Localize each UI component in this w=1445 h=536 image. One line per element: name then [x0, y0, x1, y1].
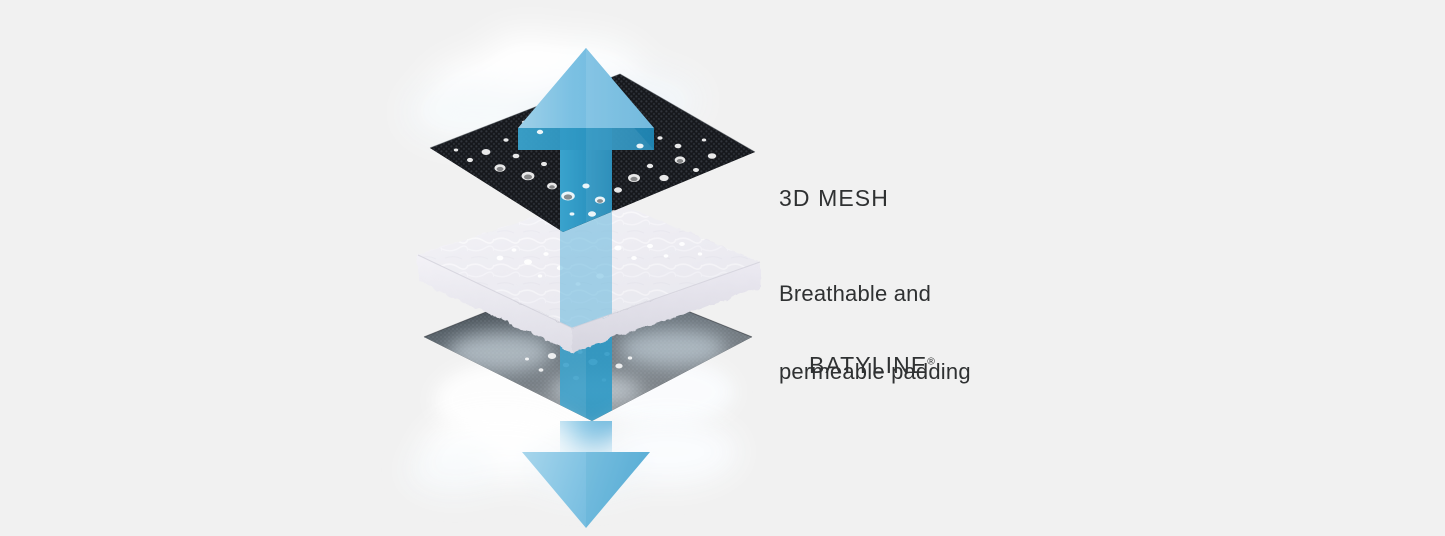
- label-3d-mesh-text: 3D MESH: [779, 185, 889, 212]
- diagram-canvas: 3D MESH Breathable and permeable padding…: [0, 0, 1445, 536]
- registered-trademark-mark: ®: [927, 356, 935, 367]
- label-batyline-text: BATYLINE: [809, 352, 927, 378]
- label-batyline: BATYLINE®: [779, 325, 935, 406]
- layer-stack-illustration: [0, 0, 1445, 536]
- label-padding-line1: Breathable and: [779, 281, 971, 307]
